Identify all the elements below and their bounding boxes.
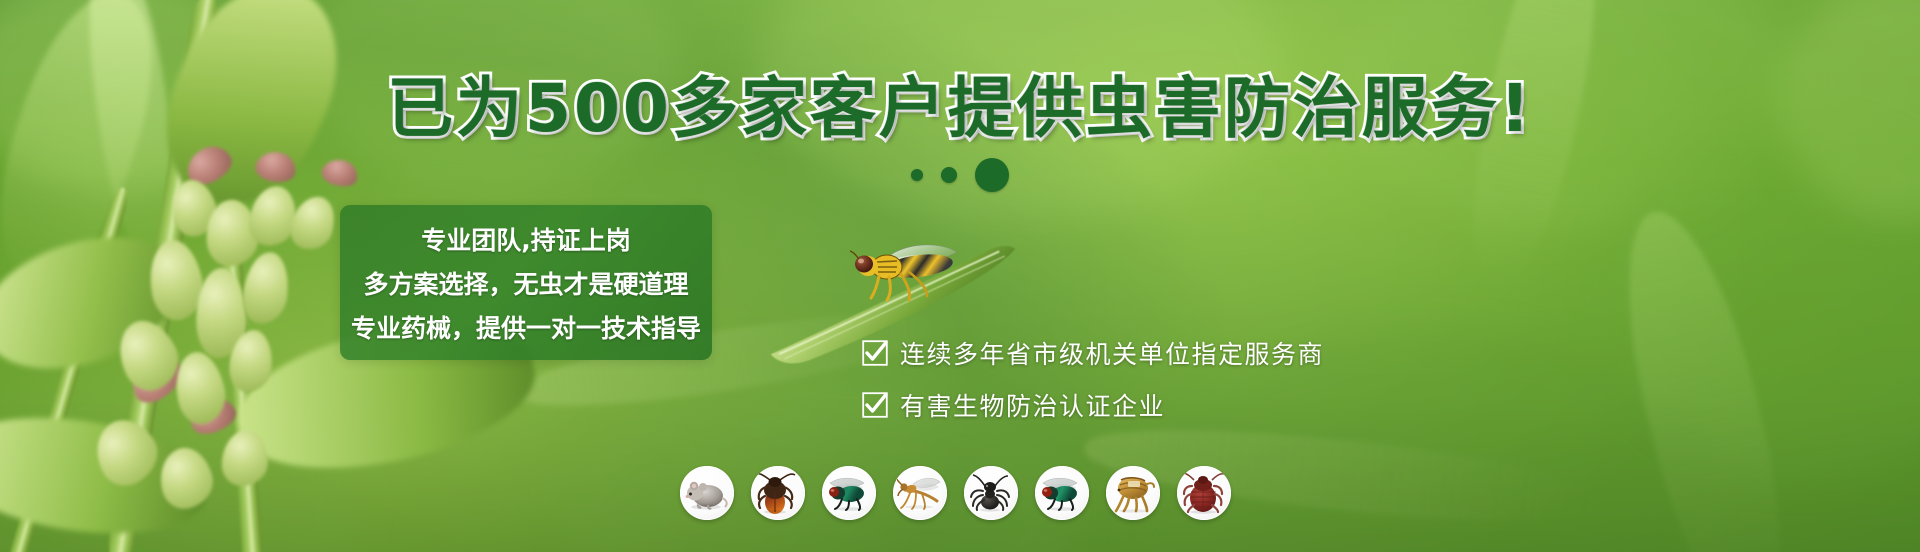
headline-decor-dots bbox=[0, 158, 1920, 192]
panel-line-3: 专业药械，提供一对一技术指导 bbox=[351, 309, 701, 345]
mosquito-icon[interactable] bbox=[893, 466, 947, 520]
checkbox-checked-icon bbox=[862, 340, 888, 366]
feature-text: 有害生物防治认证企业 bbox=[900, 387, 1165, 423]
panel-line-2: 多方案选择，无虫才是硬道理 bbox=[363, 265, 688, 301]
decor-dot-large bbox=[975, 158, 1009, 192]
pest-icon-row bbox=[680, 466, 1231, 520]
pest-control-hero-banner: 已为500多家客户提供虫害防治服务! bbox=[0, 0, 1920, 552]
bedbug-icon[interactable] bbox=[1177, 466, 1231, 520]
cockroach-icon[interactable] bbox=[751, 466, 805, 520]
feature-text: 连续多年省市级机关单位指定服务商 bbox=[900, 335, 1324, 371]
flea-icon[interactable] bbox=[1106, 466, 1160, 520]
value-prop-panel: 专业团队,持证上岗 多方案选择，无虫才是硬道理 专业药械，提供一对一技术指导 bbox=[340, 205, 712, 360]
decor-dot-small-2 bbox=[941, 167, 957, 183]
panel-line-1: 专业团队,持证上岗 bbox=[421, 221, 631, 257]
checkbox-checked-icon bbox=[862, 392, 888, 418]
ant-icon[interactable] bbox=[964, 466, 1018, 520]
rodent-icon[interactable] bbox=[680, 466, 734, 520]
hoverfly-icon bbox=[845, 240, 975, 310]
feature-list: 连续多年省市级机关单位指定服务商 有害生物防治认证企业 bbox=[862, 336, 1502, 440]
fly-icon[interactable] bbox=[822, 466, 876, 520]
decor-dot-small-1 bbox=[911, 169, 923, 181]
feature-row: 连续多年省市级机关单位指定服务商 bbox=[862, 336, 1502, 370]
blowfly-icon[interactable] bbox=[1035, 466, 1089, 520]
feature-row: 有害生物防治认证企业 bbox=[862, 388, 1502, 422]
